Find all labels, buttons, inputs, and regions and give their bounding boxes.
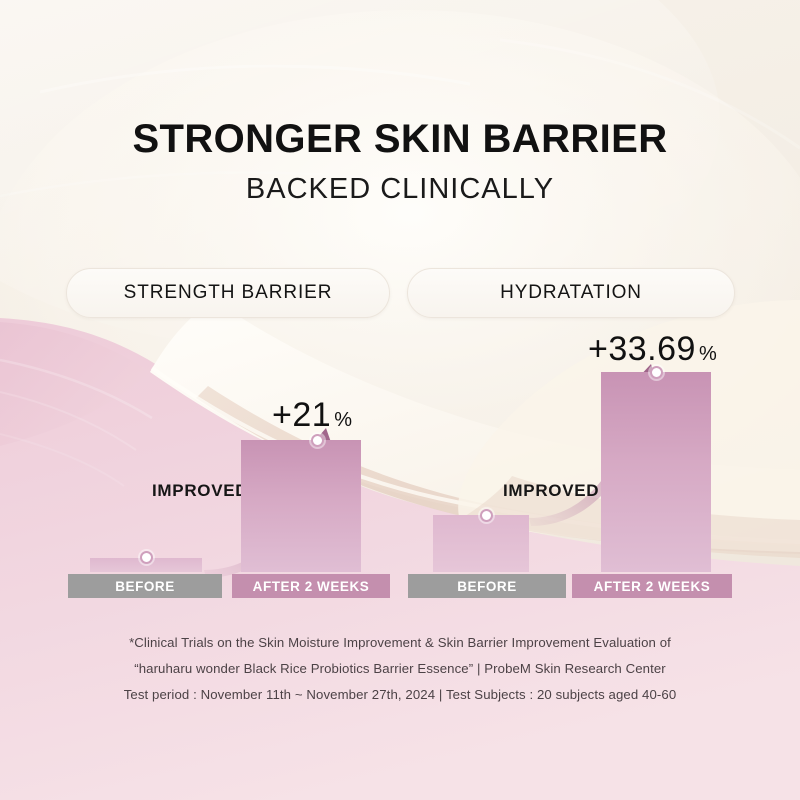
delta-hydration: +33.69 % — [588, 330, 717, 369]
delta-strength-symbol: % — [334, 409, 352, 432]
footnote-line-2: “haruharu wonder Black Rice Probiotics B… — [0, 659, 800, 679]
marker-strength-before — [140, 551, 153, 564]
footnote-block: *Clinical Trials on the Skin Moisture Im… — [0, 633, 800, 710]
improved-label-strength: IMPROVED — [152, 481, 248, 501]
footnote-line-1: *Clinical Trials on the Skin Moisture Im… — [0, 633, 800, 653]
axis-label-strength-before-text: BEFORE — [115, 579, 175, 594]
marker-hydration-before — [480, 509, 493, 522]
axis-label-hydration-before: BEFORE — [408, 574, 566, 598]
delta-hydration-symbol: % — [699, 343, 717, 366]
bar-strength-after — [241, 440, 361, 572]
footnote-line-3: Test period : November 11th ~ November 2… — [0, 685, 800, 705]
infographic-root: STRONGER SKIN BARRIER BACKED CLINICALLY … — [0, 0, 800, 800]
axis-label-hydration-before-text: BEFORE — [457, 579, 517, 594]
delta-hydration-value: +33.69 — [588, 330, 696, 369]
delta-strength: +21 % — [272, 396, 352, 435]
axis-label-hydration-after-text: AFTER 2 WEEKS — [594, 579, 711, 594]
axis-label-hydration-after: AFTER 2 WEEKS — [572, 574, 732, 598]
axis-label-strength-after: AFTER 2 WEEKS — [232, 574, 390, 598]
axis-label-strength-after-text: AFTER 2 WEEKS — [253, 579, 370, 594]
bar-hydration-after — [601, 372, 711, 572]
delta-strength-value: +21 — [272, 396, 331, 435]
bar-hydration-before — [433, 515, 529, 572]
improved-label-hydration: IMPROVED — [503, 481, 599, 501]
marker-strength-after — [311, 434, 324, 447]
axis-label-strength-before: BEFORE — [68, 574, 222, 598]
